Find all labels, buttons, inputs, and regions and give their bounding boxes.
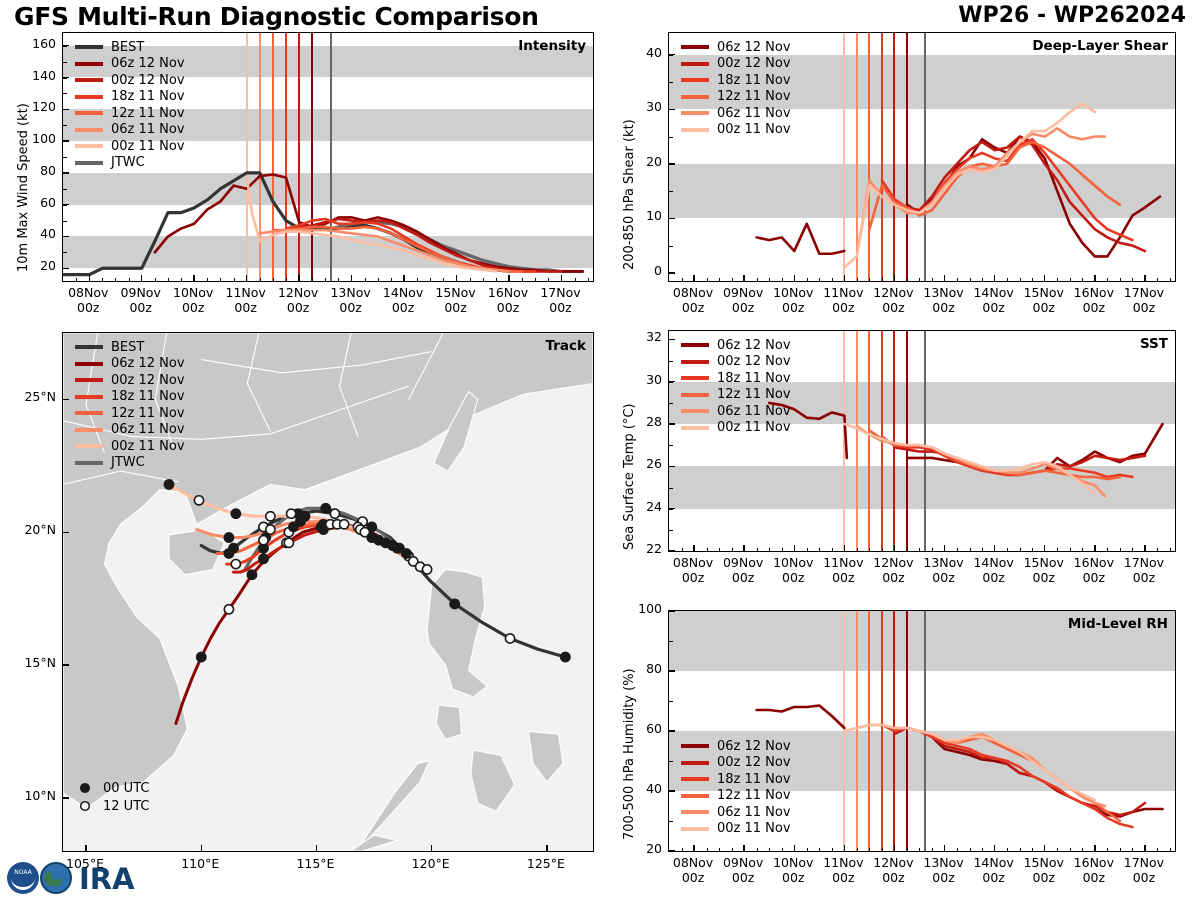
lon-tick-mark [316,845,317,851]
x-minor-tick [1120,548,1121,552]
x-tick-hour: 00z [682,570,704,585]
x-minor-tick [1070,848,1071,852]
x-tick-day: 15Nov [435,285,475,300]
track-marker-00utc [197,652,206,661]
x-tick-hour: 00z [832,570,854,585]
x-tick-day: 10Nov [773,855,813,870]
x-tick-mark [844,545,845,551]
y-minor-tick [63,46,67,47]
x-minor-tick [548,278,549,282]
x-minor-tick [430,278,431,282]
x-tick-hour: 00z [1033,870,1055,885]
legend-label: 18z 11 Nov [717,73,791,88]
y-tick-label: 28 [620,414,662,429]
rh-panel-title: Mid-Level RH [1068,616,1168,632]
series-line-06z-11-nov [857,426,1105,496]
x-minor-tick [807,278,808,282]
x-minor-tick [1070,548,1071,552]
x-minor-tick [719,278,720,282]
y-minor-tick [669,273,673,274]
x-tick-mark [894,275,895,281]
x-minor-tick [932,848,933,852]
legend-swatch [681,111,709,115]
y-minor-tick [63,78,67,79]
legend-label: 12z 11 Nov [111,406,185,421]
x-minor-tick [1082,848,1083,852]
x-tick-hour: 00z [932,870,954,885]
series-line-18z-11-nov [882,725,1133,827]
x-minor-tick [1032,548,1033,552]
legend-label: 00z 12 Nov [717,755,791,770]
track-marker-00utc [381,538,390,547]
x-tick-label: 14Nov00z [373,285,433,315]
x-minor-tick [155,278,156,282]
legend-label: 06z 12 Nov [717,338,791,353]
shear-panel: Deep-Layer Shear 06z 12 Nov00z 12 Nov18z… [668,32,1176,282]
legend-label: BEST [111,40,144,55]
lon-tick-mark [546,845,547,851]
x-minor-tick [168,278,169,282]
x-tick-day: 09Nov [723,555,763,570]
x-tick-mark [994,545,995,551]
track-marker-00utc [321,504,330,513]
x-tick-label: 11Nov00z [216,285,276,315]
x-minor-tick [869,848,870,852]
legend-shear: 06z 12 Nov00z 12 Nov18z 11 Nov12z 11 Nov… [681,39,791,138]
track-marker-12utc [266,512,275,521]
legend-swatch [681,827,709,831]
x-minor-tick [470,278,471,282]
track-marker-12utc [330,509,339,518]
x-minor-tick [970,548,971,552]
y-tick-label: 22 [620,541,662,556]
x-tick-mark [794,545,795,551]
x-tick-mark [193,275,194,281]
x-minor-tick [1057,848,1058,852]
x-tick-day: 15Nov [1024,855,1064,870]
x-minor-tick [957,848,958,852]
lon-tick-mark [431,845,432,851]
y-tick-label: 40 [620,781,662,796]
x-minor-tick [769,278,770,282]
y-minor-tick [669,530,673,531]
x-tick-mark [456,275,457,281]
x-tick-label: 17Nov00z [1114,285,1174,315]
x-tick-hour: 00z [782,870,804,885]
x-tick-hour: 00z [287,300,309,315]
svg-text:NOAA: NOAA [14,869,32,876]
x-minor-tick [882,548,883,552]
x-tick-day: 10Nov [773,555,813,570]
y-tick-label: 20 [14,258,56,273]
y-tick-label: 30 [620,372,662,387]
x-tick-day: 08Nov [673,855,713,870]
x-minor-tick [129,278,130,282]
legend-label: 06z 12 Nov [111,56,185,71]
legend-swatch [681,78,709,82]
track-marker-12utc [194,496,203,505]
legend-label: 00z 11 Nov [717,420,791,435]
legend-swatch [681,376,709,380]
x-minor-tick [857,278,858,282]
intensity-panel: Intensity BEST06z 12 Nov00z 12 Nov18z 11… [62,32,594,282]
x-tick-mark [298,275,299,281]
x-tick-day: 11Nov [823,285,863,300]
y-minor-tick [669,382,673,383]
legend-swatch [681,426,709,430]
legend-row: 00z 11 Nov [681,821,791,838]
x-tick-hour: 00z [1133,300,1155,315]
x-tick-day: 08Nov [68,285,108,300]
legend-swatch [681,62,709,66]
legend-label: 12z 11 Nov [111,106,185,121]
legend-row: 06z 12 Nov [681,738,791,755]
lon-tick-label: 120°E [396,856,466,871]
y-tick-label: 100 [14,131,56,146]
marker-legend: 00 UTC12 UTC [77,779,149,815]
legend-label: 06z 11 Nov [717,404,791,419]
legend-swatch [75,144,103,148]
x-minor-tick [857,548,858,552]
legend-row: 06z 12 Nov [75,56,185,73]
track-marker-12utc [287,509,296,518]
track-marker-00utc [247,570,256,579]
legend-label: 06z 11 Nov [111,422,185,437]
legend-swatch [75,345,103,349]
x-tick-mark [1094,545,1095,551]
x-tick-day: 14Nov [973,285,1013,300]
legend-label: 00z 11 Nov [111,439,185,454]
legend-swatch [75,461,103,465]
legend-swatch [75,95,103,99]
lat-tick-mark [63,797,69,798]
x-tick-day: 09Nov [121,285,161,300]
x-minor-tick [273,278,274,282]
x-minor-tick [483,278,484,282]
x-minor-tick [1020,278,1021,282]
x-minor-tick [325,278,326,282]
legend-row: 00z 12 Nov [681,354,791,371]
x-tick-mark [1044,845,1045,851]
track-marker-00utc [224,533,233,542]
legend-row: 12z 11 Nov [681,387,791,404]
legend-row: JTWC [75,155,185,172]
legend-swatch [75,411,103,415]
x-minor-tick [496,278,497,282]
track-marker-12utc [422,565,431,574]
y-tick-label: 80 [14,163,56,178]
y-tick-label: 80 [620,661,662,676]
y-tick-label: 10 [620,208,662,223]
y-tick-label: 140 [14,68,56,83]
x-tick-hour: 00z [339,300,361,315]
x-tick-mark [1144,275,1145,281]
x-minor-tick [919,278,920,282]
x-minor-tick [1120,278,1121,282]
x-minor-tick [378,278,379,282]
x-minor-tick [1007,548,1008,552]
y-minor-tick [669,821,673,822]
x-tick-mark [944,545,945,551]
track-panel: Track BEST06z 12 Nov00z 12 Nov18z 11 Nov… [62,332,594,852]
track-marker-00utc [231,509,240,518]
x-minor-tick [919,848,920,852]
y-minor-tick [669,701,673,702]
sst-panel-title: SST [1140,336,1168,352]
x-minor-tick [682,278,683,282]
y-minor-tick [669,164,673,165]
x-minor-tick [588,278,589,282]
series-line-00z-12-nov [894,137,1144,251]
legend-swatch [75,128,103,132]
x-minor-tick [1107,278,1108,282]
x-tick-mark [794,275,795,281]
x-minor-tick [757,548,758,552]
x-tick-label: 17Nov00z [1114,855,1174,885]
track-marker-00utc [450,599,459,608]
x-tick-day: 14Nov [973,855,1013,870]
y-minor-tick [669,109,673,110]
x-tick-hour: 00z [832,870,854,885]
x-minor-tick [782,548,783,552]
x-tick-day: 13Nov [923,555,963,570]
x-minor-tick [1082,278,1083,282]
y-minor-tick [669,137,673,138]
x-tick-mark [1044,275,1045,281]
x-minor-tick [417,278,418,282]
legend-row: 00z 12 Nov [75,72,185,89]
x-tick-hour: 00z [882,870,904,885]
x-tick-hour: 00z [497,300,519,315]
legend-label: 00z 12 Nov [111,373,185,388]
x-minor-tick [982,548,983,552]
y-minor-tick [63,189,67,190]
y-minor-tick [669,731,673,732]
x-tick-hour: 00z [392,300,414,315]
legend-label: 00z 11 Nov [111,139,185,154]
x-minor-tick [1157,848,1158,852]
x-tick-mark [743,275,744,281]
x-tick-day: 10Nov [173,285,213,300]
track-marker-12utc [284,538,293,547]
x-tick-day: 16Nov [1074,285,1114,300]
track-marker-12utc [259,536,268,545]
x-tick-day: 08Nov [673,285,713,300]
legend-row: 00z 12 Nov [681,56,791,73]
legend-swatch [681,409,709,413]
legend-row: 00z 12 Nov [75,372,185,389]
track-marker-12utc [231,560,240,569]
lon-tick-label: 105°E [50,856,120,871]
legend-row: 18z 11 Nov [75,89,185,106]
x-minor-tick [832,548,833,552]
y-minor-tick [669,509,673,510]
marker-legend-row: 00 UTC [77,779,149,797]
x-minor-tick [391,278,392,282]
y-minor-tick [669,424,673,425]
x-minor-tick [782,278,783,282]
y-minor-tick [63,157,67,158]
track-marker-00utc [561,652,570,661]
x-tick-day: 15Nov [1024,555,1064,570]
rh-y-axis-label: 700-500 hPa Humidity (%) [622,668,637,840]
marker-legend-row: 12 UTC [77,797,149,815]
x-minor-tick [782,848,783,852]
marker-legend-label: 12 UTC [103,799,149,814]
x-tick-day: 12Nov [873,855,913,870]
x-tick-label: 09Nov00z [111,285,171,315]
x-minor-tick [76,278,77,282]
x-minor-tick [1157,278,1158,282]
track-marker-00utc [259,554,268,563]
legend-label: 00z 12 Nov [717,354,791,369]
x-tick-label: 10Nov00z [163,285,223,315]
legend-row: 12z 11 Nov [681,788,791,805]
x-minor-tick [707,848,708,852]
x-minor-tick [707,548,708,552]
x-minor-tick [1070,278,1071,282]
shear-panel-title: Deep-Layer Shear [1032,38,1168,54]
x-tick-day: 13Nov [923,855,963,870]
x-minor-tick [1020,548,1021,552]
x-tick-hour: 00z [234,300,256,315]
x-tick-day: 11Nov [226,285,266,300]
x-minor-tick [907,848,908,852]
series-line-best-env [757,224,845,254]
y-minor-tick [63,109,67,110]
legend-label: 06z 11 Nov [717,805,791,820]
x-tick-mark [561,275,562,281]
x-minor-tick [1032,848,1033,852]
x-tick-hour: 00z [1033,300,1055,315]
legend-label: 18z 11 Nov [717,371,791,386]
legend-row: 18z 11 Nov [681,370,791,387]
x-tick-mark [403,275,404,281]
x-tick-mark [141,275,142,281]
x-tick-hour: 00z [1033,570,1055,585]
x-tick-hour: 00z [444,300,466,315]
track-marker-00utc [300,512,309,521]
x-minor-tick [1107,548,1108,552]
legend-row: 06z 11 Nov [681,804,791,821]
x-minor-tick [1032,278,1033,282]
x-tick-label: 12Nov00z [268,285,328,315]
y-minor-tick [669,445,673,446]
legend-row: 06z 11 Nov [75,422,185,439]
legend-row: 06z 11 Nov [75,122,185,139]
x-tick-hour: 00z [882,570,904,585]
x-minor-tick [694,278,695,282]
x-tick-day: 10Nov [773,285,813,300]
page-title: GFS Multi-Run Diagnostic Comparison [14,2,539,31]
x-tick-mark [894,545,895,551]
legend-label: BEST [111,340,144,355]
x-tick-mark [944,845,945,851]
y-tick-label: 60 [620,721,662,736]
y-tick-label: 100 [620,601,662,616]
x-tick-mark [743,545,744,551]
y-tick-label: 120 [14,99,56,114]
legend-swatch [681,744,709,748]
x-minor-tick [89,278,90,282]
x-tick-mark [1094,845,1095,851]
x-minor-tick [769,548,770,552]
x-tick-day: 11Nov [823,855,863,870]
track-marker-12utc [224,605,233,614]
y-minor-tick [669,488,673,489]
x-tick-hour: 00z [782,570,804,585]
x-tick-hour: 00z [549,300,571,315]
legend-swatch [681,777,709,781]
x-minor-tick [694,548,695,552]
intensity-y-axis-label: 10m Max Wind Speed (kt) [16,103,31,272]
x-minor-tick [932,278,933,282]
x-minor-tick [312,278,313,282]
x-tick-label: 17Nov00z [531,285,591,315]
lat-tick-label: 25°N [6,389,56,404]
y-minor-tick [669,761,673,762]
x-tick-day: 16Nov [1074,855,1114,870]
y-minor-tick [63,205,67,206]
track-marker-00utc [224,549,233,558]
y-tick-label: 24 [620,499,662,514]
legend-row: 00z 11 Nov [75,138,185,155]
track-marker-00utc [402,549,411,558]
x-minor-tick [919,548,920,552]
x-tick-hour: 00z [1133,870,1155,885]
x-minor-tick [115,278,116,282]
x-minor-tick [338,278,339,282]
legend-swatch [75,362,103,366]
legend-row: 06z 12 Nov [75,356,185,373]
track-marker-12utc [266,525,275,534]
x-minor-tick [882,848,883,852]
y-minor-tick [63,141,67,142]
lat-tick-label: 15°N [6,655,56,670]
y-tick-mark [669,610,675,611]
x-minor-tick [757,848,758,852]
x-minor-tick [1157,548,1158,552]
x-tick-mark [894,845,895,851]
x-minor-tick [857,848,858,852]
y-minor-tick [669,246,673,247]
lon-tick-label: 125°E [511,856,581,871]
y-minor-tick [669,466,673,467]
x-tick-mark [944,275,945,281]
y-minor-tick [63,93,67,94]
x-minor-tick [1082,548,1083,552]
y-tick-label: 20 [620,841,662,856]
y-minor-tick [63,221,67,222]
x-tick-hour: 00z [832,300,854,315]
x-minor-tick [970,278,971,282]
x-minor-tick [819,278,820,282]
legend-row: 00z 11 Nov [75,438,185,455]
y-minor-tick [669,339,673,340]
x-tick-day: 17Nov [1124,855,1164,870]
legend-row: 00z 11 Nov [681,122,791,139]
x-minor-tick [982,278,983,282]
y-minor-tick [669,55,673,56]
x-tick-hour: 00z [129,300,151,315]
x-minor-tick [1107,848,1108,852]
legend-row: 06z 11 Nov [681,403,791,420]
x-tick-day: 17Nov [1124,555,1164,570]
case-title: WP26 - WP262024 [958,3,1186,28]
x-tick-hour: 00z [1083,870,1105,885]
y-minor-tick [63,125,67,126]
x-minor-tick [832,278,833,282]
